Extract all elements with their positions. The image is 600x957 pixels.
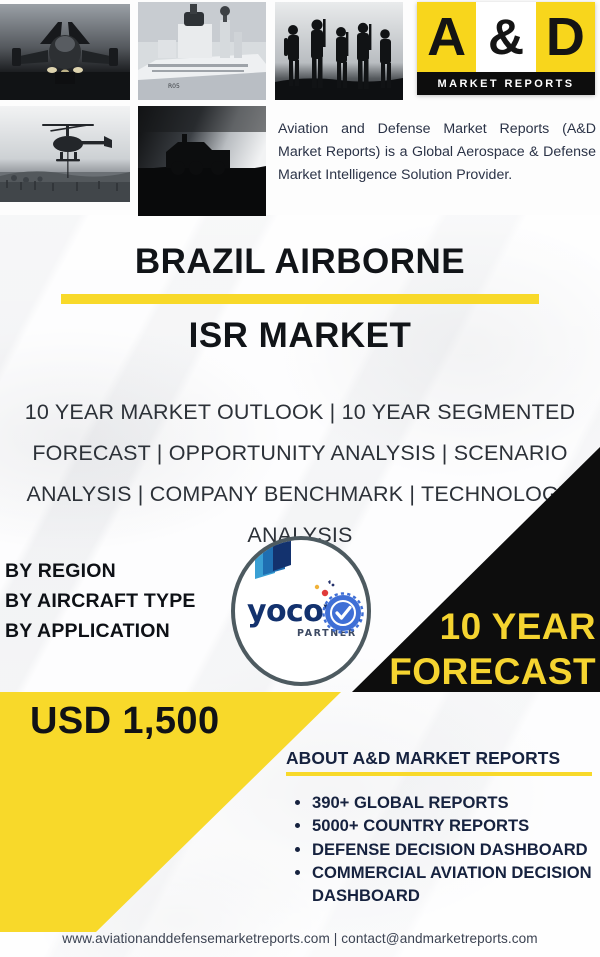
forecast-line2: FORECAST	[266, 649, 596, 694]
logo-tagline-text: MARKET REPORTS	[438, 78, 575, 90]
armored-vehicle-photo	[138, 106, 266, 216]
list-item: DEFENSE DECISION DASHBOARD	[312, 839, 594, 862]
list-item: 390+ GLOBAL REPORTS	[312, 792, 594, 815]
brand-logo: A & D MARKET REPORTS	[417, 2, 595, 95]
svg-text:R05: R05	[168, 83, 180, 90]
footer-contact: www.aviationanddefensemarketreports.com …	[0, 931, 600, 946]
logo-letter-d: D	[536, 2, 595, 72]
fighter-jet-photo	[0, 4, 130, 100]
naval-warship-photo: R05	[138, 2, 266, 100]
header-photo-strip: R05	[0, 0, 600, 215]
title-block: BRAZIL AIRBORNE ISR MARKET	[0, 242, 600, 356]
military-helicopter-photo	[0, 106, 130, 202]
forecast-line1: 10 YEAR	[266, 604, 596, 649]
segment-item-application: BY APPLICATION	[5, 616, 196, 646]
about-section: ABOUT A&D MARKET REPORTS 390+ GLOBAL REP…	[286, 748, 594, 908]
company-intro-text: Aviation and Defense Market Reports (A&D…	[278, 118, 596, 187]
logo-letters: A & D	[417, 2, 595, 72]
about-heading: ABOUT A&D MARKET REPORTS	[286, 748, 594, 769]
title-underline	[61, 294, 539, 304]
soldiers-silhouette-photo	[275, 2, 403, 100]
forecast-callout: 10 YEAR FORECAST	[266, 604, 596, 694]
logo-letter-ampersand: &	[476, 2, 535, 72]
report-title-line2: ISR MARKET	[0, 316, 600, 357]
list-item: 5000+ COUNTRY REPORTS	[312, 815, 594, 838]
list-item: COMMERCIAL AVIATION DECISION DASHBOARD	[312, 862, 594, 907]
price-label: USD 1,500	[30, 700, 219, 743]
about-heading-underline	[286, 772, 592, 776]
logo-letter-a: A	[417, 2, 476, 72]
segment-item-aircraft-type: BY AIRCRAFT TYPE	[5, 586, 196, 616]
report-title-line1: BRAZIL AIRBORNE	[0, 242, 600, 283]
segment-item-region: BY REGION	[5, 556, 196, 586]
segmentation-list: BY REGION BY AIRCRAFT TYPE BY APPLICATIO…	[5, 556, 196, 646]
logo-tagline-bar: MARKET REPORTS	[417, 72, 595, 95]
report-poster: R05	[0, 0, 600, 957]
report-scope-text: 10 YEAR MARKET OUTLOOK | 10 YEAR SEGMENT…	[18, 392, 582, 556]
about-bullet-list: 390+ GLOBAL REPORTS 5000+ COUNTRY REPORT…	[286, 792, 594, 908]
